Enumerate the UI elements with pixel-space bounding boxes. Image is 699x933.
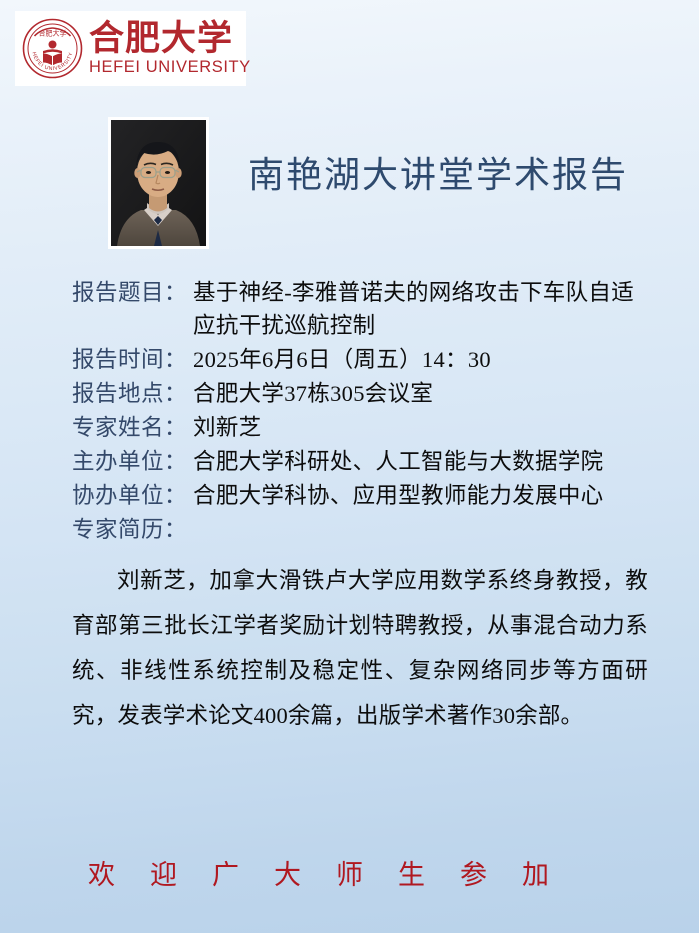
speaker-portrait — [108, 117, 209, 249]
university-name-cn: 合肥大学 — [89, 20, 251, 58]
university-logo: 合肥大学 HEFEI UNIVERSITY 合肥大学 HEFEI UNIVERS… — [15, 11, 246, 86]
info-value-speaker: 刘新芝 — [193, 411, 261, 444]
page-title: 南艳湖大讲堂学术报告 — [248, 152, 648, 198]
info-row-coorganizer: 协办单位： 合肥大学科协、应用型教师能力发展中心 — [72, 479, 652, 512]
info-value-topic: 基于神经-李雅普诺夫的网络攻击下车队自适 应抗干扰巡航控制 — [193, 276, 634, 342]
svg-text:合肥大学: 合肥大学 — [39, 29, 67, 38]
speaker-portrait-image — [111, 120, 206, 246]
speaker-biography: 刘新芝，加拿大滑铁卢大学应用数学系终身教授，教育部第三批长江学者奖励计划特聘教授… — [72, 558, 648, 738]
info-value-organizer: 合肥大学科研处、人工智能与大数据学院 — [193, 445, 603, 478]
welcome-footer: 欢迎广大师生参加 — [88, 857, 618, 893]
info-label-biography: 专家简历： — [72, 513, 652, 546]
lecture-info-block: 报告题目： 基于神经-李雅普诺夫的网络攻击下车队自适 应抗干扰巡航控制 报告时间… — [72, 276, 652, 546]
info-row-organizer: 主办单位： 合肥大学科研处、人工智能与大数据学院 — [72, 445, 652, 478]
university-name-en: HEFEI UNIVERSITY — [89, 58, 251, 77]
info-row-location: 报告地点： 合肥大学37栋305会议室 — [72, 377, 652, 410]
info-label-organizer: 主办单位： — [72, 445, 187, 478]
info-row-topic: 报告题目： 基于神经-李雅普诺夫的网络攻击下车队自适 应抗干扰巡航控制 — [72, 276, 652, 342]
info-value-coorganizer: 合肥大学科协、应用型教师能力发展中心 — [193, 479, 603, 512]
info-label-coorganizer: 协办单位： — [72, 479, 187, 512]
info-value-location: 合肥大学37栋305会议室 — [193, 377, 433, 410]
info-label-topic: 报告题目： — [72, 276, 187, 309]
university-logo-text: 合肥大学 HEFEI UNIVERSITY — [89, 20, 251, 77]
info-value-topic-line1: 基于神经-李雅普诺夫的网络攻击下车队自适 — [193, 280, 634, 305]
hefei-university-emblem-icon: 合肥大学 HEFEI UNIVERSITY — [21, 17, 84, 80]
info-row-time: 报告时间： 2025年6月6日（周五）14：30 — [72, 343, 652, 376]
info-value-time: 2025年6月6日（周五）14：30 — [193, 343, 491, 376]
info-value-topic-line2: 应抗干扰巡航控制 — [193, 309, 634, 342]
info-label-speaker: 专家姓名： — [72, 411, 187, 444]
info-label-time: 报告时间： — [72, 343, 187, 376]
info-row-speaker: 专家姓名： 刘新芝 — [72, 411, 652, 444]
seminar-poster: 合肥大学 HEFEI UNIVERSITY 合肥大学 HEFEI UNIVERS… — [0, 0, 699, 933]
info-label-location: 报告地点： — [72, 377, 187, 410]
